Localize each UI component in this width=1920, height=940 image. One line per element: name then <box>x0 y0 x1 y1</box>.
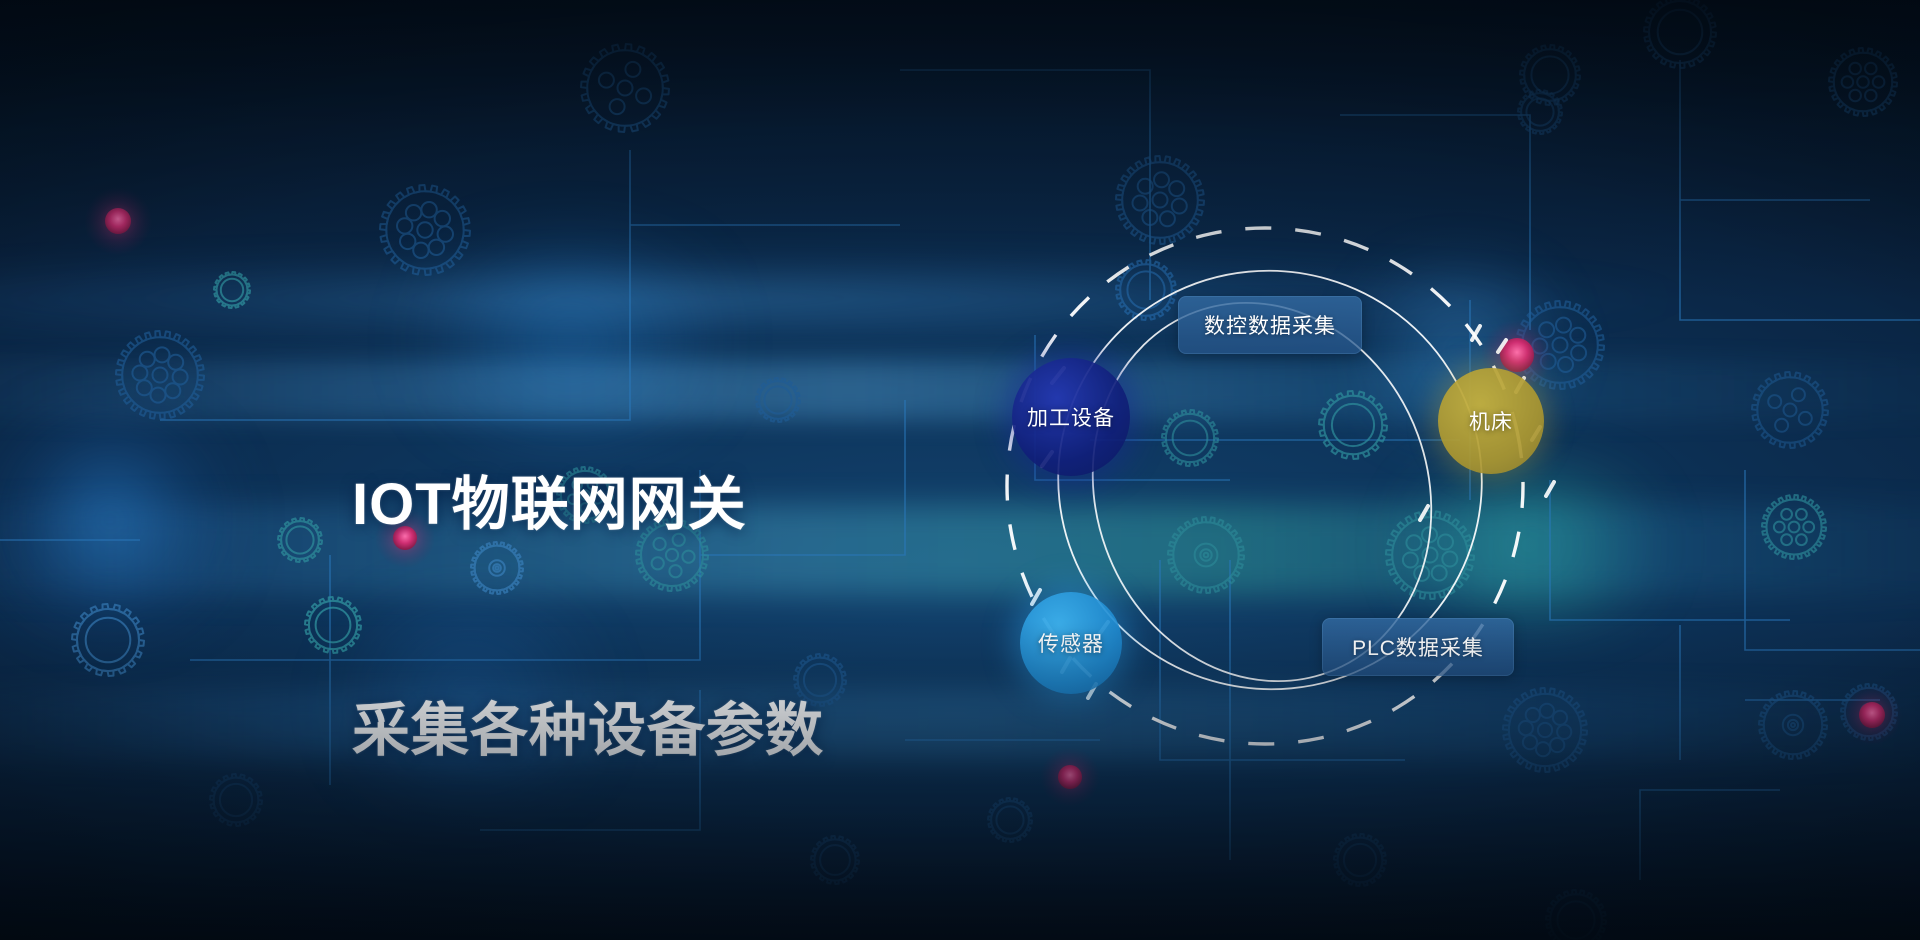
banner-stage: IOT物联网网关 采集各种设备参数 加工设备 传感器 机床 数控数据采集 PLC… <box>0 0 1920 940</box>
background-vignette <box>0 0 1920 940</box>
